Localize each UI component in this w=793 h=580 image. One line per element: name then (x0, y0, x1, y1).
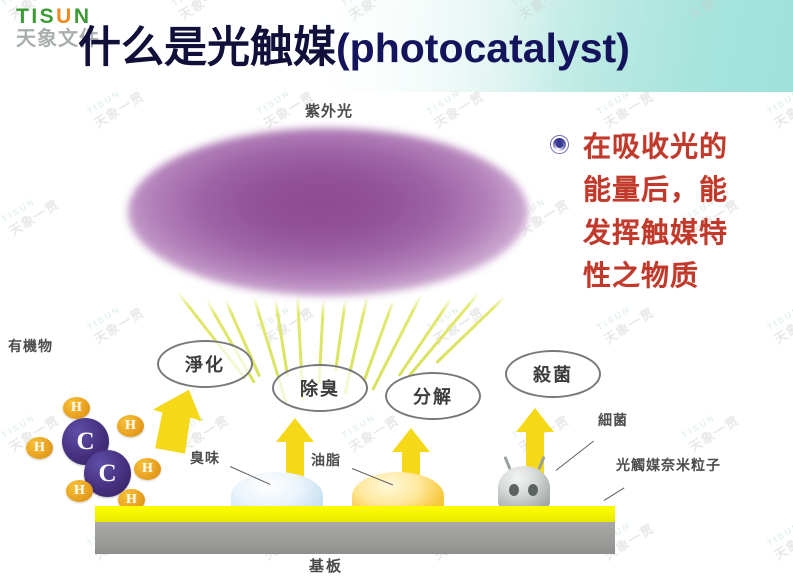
watermark-en: TISUN (0, 402, 53, 440)
bacteria-leader-line (556, 441, 595, 472)
watermark: TISUN天象一贯 (680, 402, 742, 455)
light-ray (334, 300, 347, 372)
effect-oval-purify: 淨化 (157, 340, 253, 388)
uv-light-source (128, 128, 528, 296)
bacteria-eye-left (509, 484, 519, 496)
bacteria-icon (498, 466, 550, 510)
logo-text-tis: TIS (16, 5, 56, 28)
bacteria-label: 細菌 (598, 410, 628, 430)
hydrogen-atom-3: H (117, 415, 144, 437)
organic-matter-label: 有機物 (8, 336, 53, 356)
page-title-latin: (photocatalyst) (336, 25, 630, 71)
watermark-cn: 天象一贯 (770, 518, 793, 564)
page-title: 什么是光触媒(photocatalyst) (78, 13, 630, 75)
effect-label-decompose: 分解 (413, 383, 453, 409)
hydrogen-atom-4: H (134, 458, 161, 480)
photocatalyst-coating-layer (95, 506, 615, 522)
hydrogen-atom-label: H (74, 483, 85, 499)
effect-label-purify: 淨化 (185, 351, 225, 377)
hydrogen-atom-label: H (71, 400, 82, 416)
odor-label: 臭味 (190, 448, 220, 468)
slide-canvas: TISUN天象一贯TISUN天象一贯TISUN天象一贯TISUN天象一贯TISU… (0, 0, 793, 580)
arrow-to-deodorize (272, 418, 318, 480)
watermark-cn: 天象一贯 (90, 302, 148, 348)
light-ray (362, 300, 395, 384)
substrate-layer (95, 522, 615, 554)
statement-line: 发挥触媒特 (583, 212, 783, 255)
watermark-cn: 天象一贯 (90, 86, 148, 132)
statement-block: 在吸收光的 能量后，能 发挥触媒特 性之物质 (583, 126, 783, 298)
watermark-en: TISUN (765, 510, 793, 548)
watermark: TISUN天象一贯 (0, 186, 62, 239)
hydrogen-atom-1: H (63, 397, 90, 419)
watermark: TISUN天象一贯 (595, 294, 657, 347)
effect-oval-sterilize: 殺菌 (505, 350, 601, 398)
carbon-atom-label: C (76, 428, 94, 456)
hydrogen-atom-2: H (26, 437, 53, 459)
page-title-chinese: 什么是光触媒 (78, 25, 336, 72)
spiral-bullet-icon (551, 136, 568, 153)
effect-oval-deodorize: 除臭 (272, 364, 368, 412)
hydrogen-atom-label: H (142, 461, 153, 477)
watermark: TISUN天象一贯 (765, 294, 793, 347)
watermark-cn: 天象一贯 (5, 194, 63, 240)
watermark-cn: 天象一贯 (770, 86, 793, 132)
watermark-en: TISUN (595, 294, 648, 332)
watermark: TISUN天象一贯 (765, 510, 793, 563)
hydrogen-atom-5: H (66, 480, 93, 502)
watermark-en: TISUN (0, 186, 53, 224)
substrate-label: 基板 (309, 555, 343, 576)
logo-text-u: U (56, 5, 74, 28)
watermark-cn: 天象一贯 (600, 86, 658, 132)
statement-line: 能量后，能 (583, 169, 783, 212)
bacteria-eye-right (528, 484, 538, 496)
uv-light-label: 紫外光 (305, 100, 353, 121)
watermark-en: TISUN (680, 402, 733, 440)
bacteria-antenna-left (503, 456, 511, 470)
light-ray (398, 297, 453, 376)
grease-label: 油脂 (311, 450, 341, 470)
effect-oval-decompose: 分解 (385, 372, 481, 420)
watermark-en: TISUN (85, 294, 138, 332)
hydrogen-atom-label: H (125, 418, 136, 434)
hydrogen-atom-label: H (34, 440, 45, 456)
statement-line: 性之物质 (583, 255, 783, 298)
effect-label-sterilize: 殺菌 (533, 361, 573, 387)
watermark-cn: 天象一贯 (430, 86, 488, 132)
watermark-en: TISUN (765, 294, 793, 332)
statement-line: 在吸收光的 (583, 126, 783, 169)
watermark-cn: 天象一贯 (770, 302, 793, 348)
watermark-cn: 天象一贯 (685, 410, 743, 456)
carbon-atom-label: C (98, 460, 116, 488)
watermark: TISUN天象一贯 (85, 294, 147, 347)
effect-label-deodorize: 除臭 (300, 375, 340, 401)
light-ray (408, 291, 481, 377)
nanoparticle-leader-line (604, 487, 625, 501)
watermark-en: TISUN (340, 402, 393, 440)
nanoparticle-label: 光觸媒奈米粒子 (616, 455, 721, 475)
watermark-cn: 天象一贯 (600, 302, 658, 348)
